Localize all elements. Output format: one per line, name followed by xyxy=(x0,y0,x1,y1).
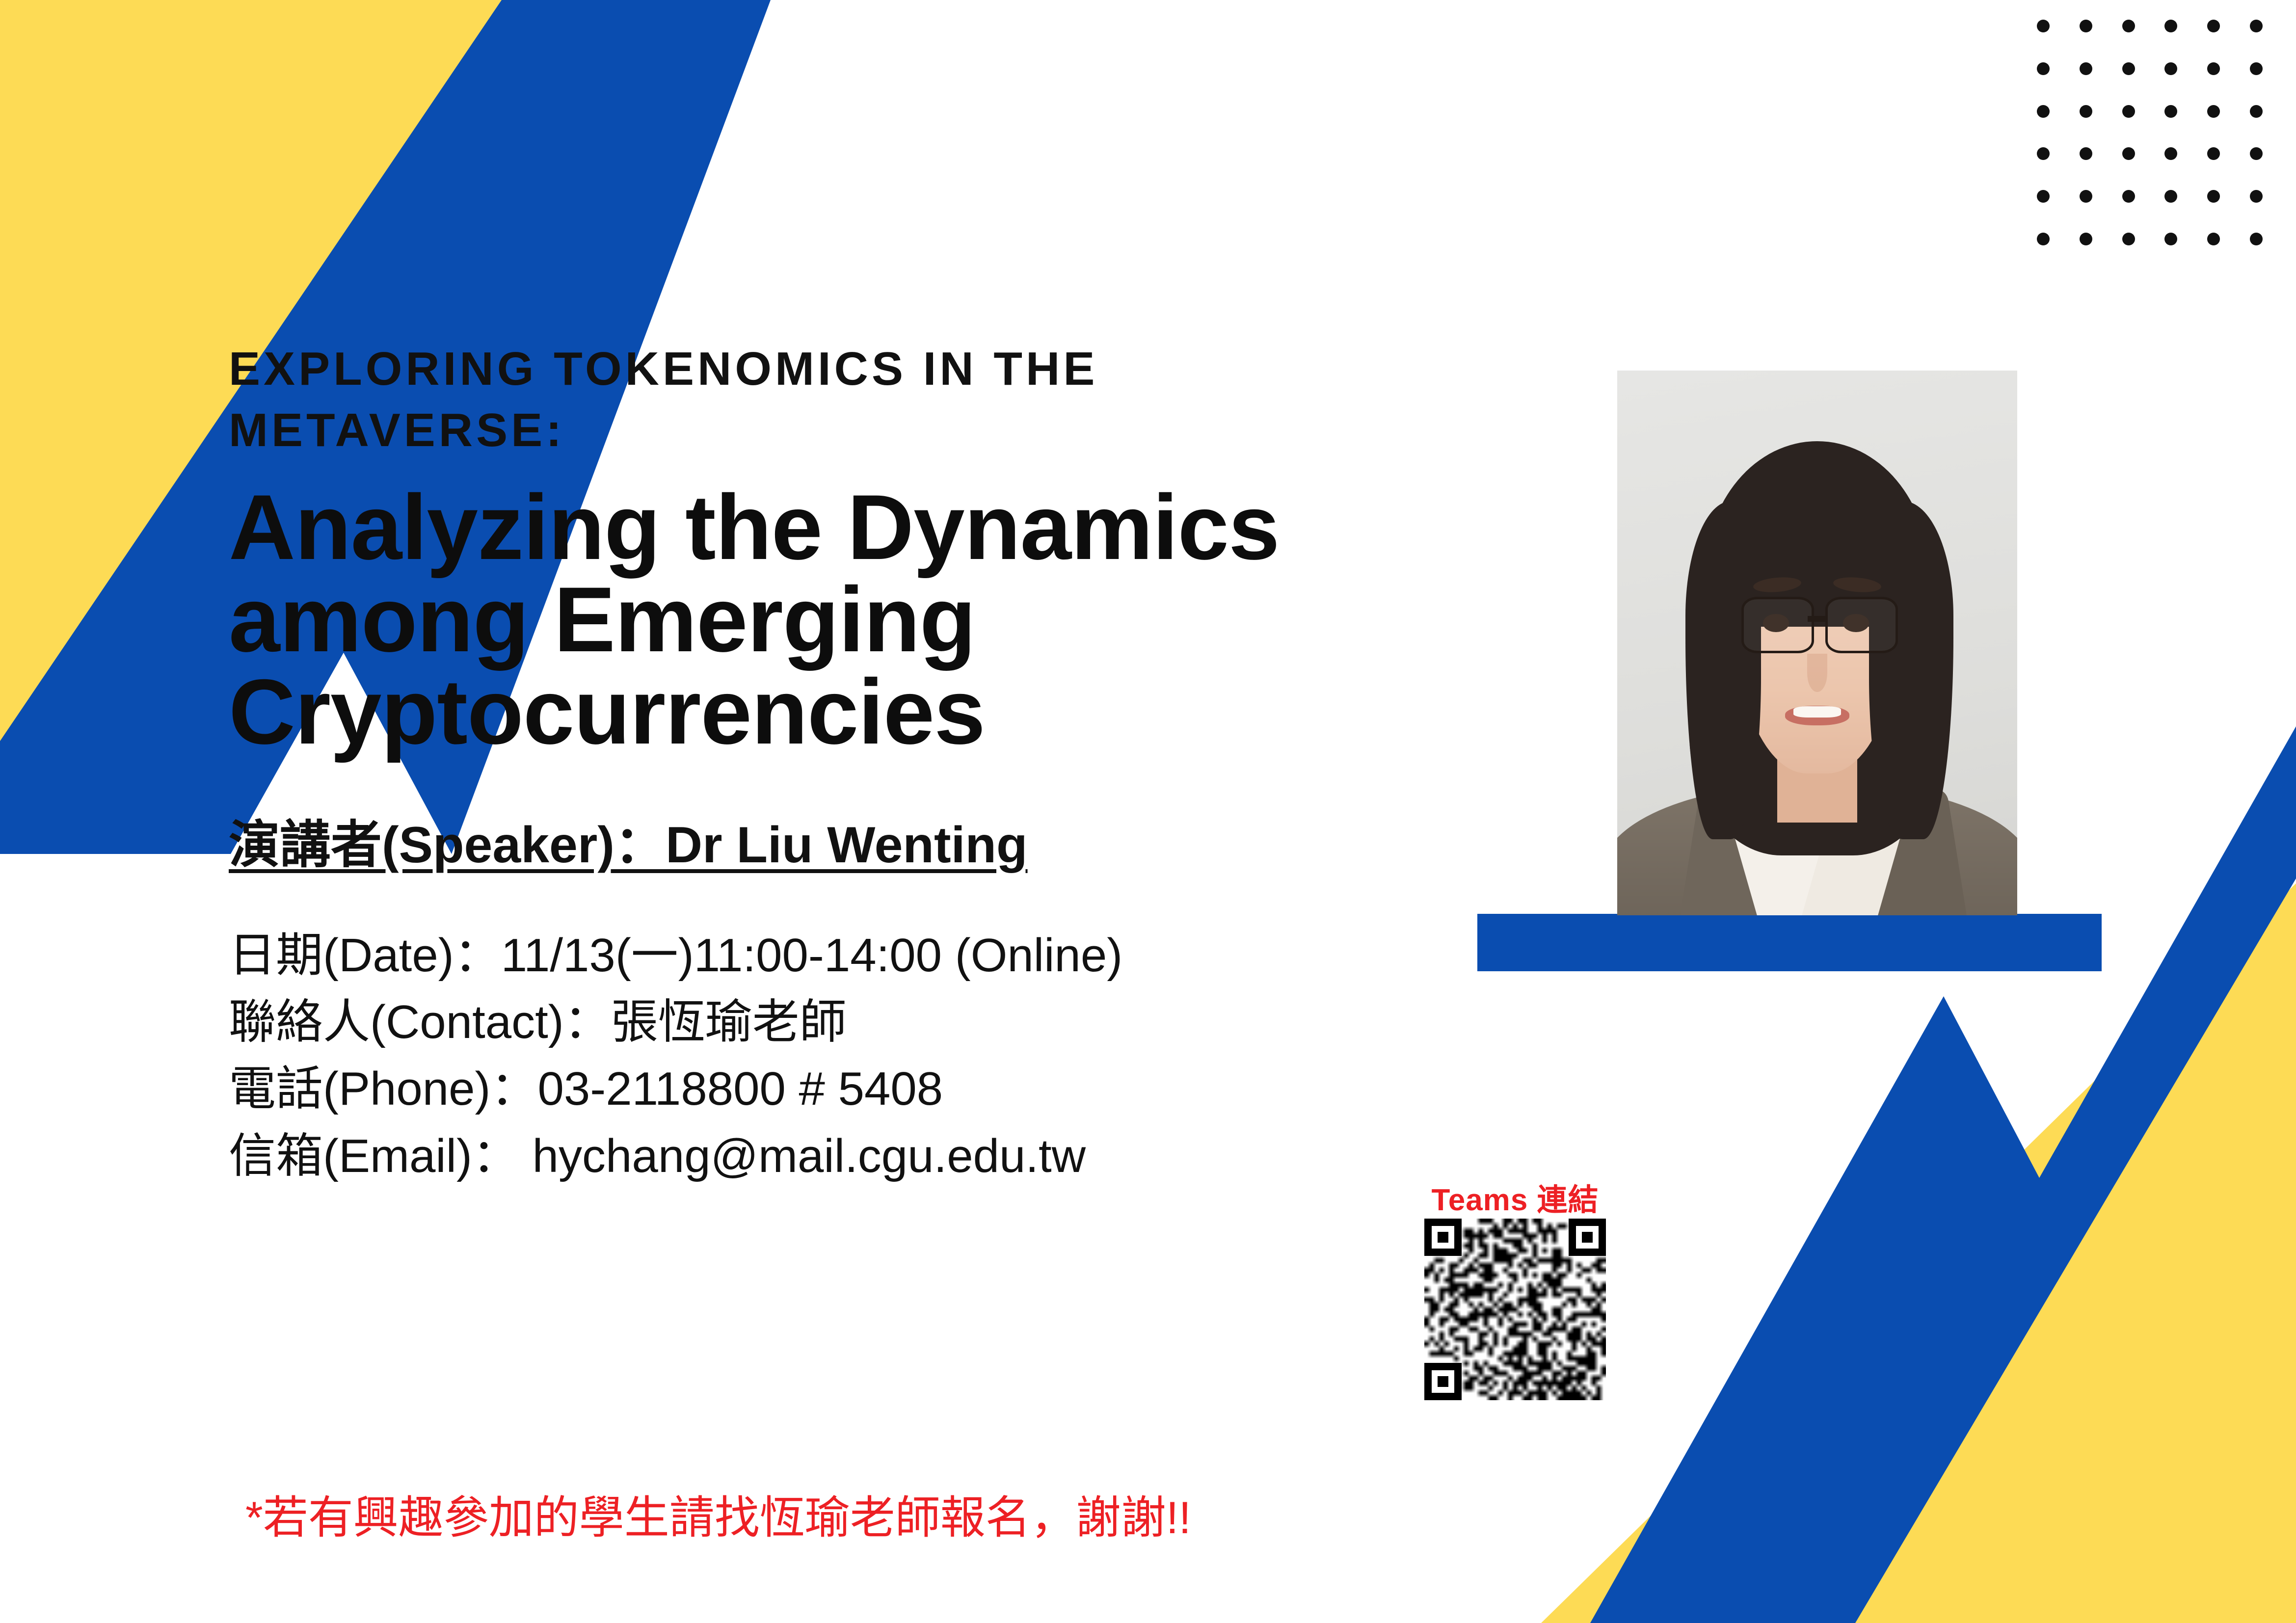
detail-email: 信箱(Email)： hychang@mail.cgu.edu.tw xyxy=(229,1123,1466,1190)
qr-code-icon[interactable] xyxy=(1424,1219,1606,1400)
grid-dot xyxy=(2207,233,2220,245)
page-title: Analyzing the Dynamics among Emerging Cr… xyxy=(229,481,1308,758)
dot-grid-decoration xyxy=(2022,5,2277,260)
grid-dot xyxy=(2122,233,2135,245)
grid-dot xyxy=(2080,105,2092,118)
qr-code-label: Teams 連結 xyxy=(1417,1185,1613,1216)
grid-dot xyxy=(2122,62,2135,75)
grid-dot xyxy=(2164,20,2177,32)
grid-dot xyxy=(2250,190,2263,203)
speaker-photo xyxy=(1617,371,2017,915)
grid-dot xyxy=(2037,20,2050,32)
detail-phone: 電話(Phone)：03-2118800 # 5408 xyxy=(229,1056,1466,1122)
grid-dot xyxy=(2164,105,2177,118)
grid-dot xyxy=(2207,105,2220,118)
event-details-list: 日期(Date)：11/13(一)11:00-14:00 (Online) 聯絡… xyxy=(229,922,1466,1190)
qr-finder-bottom-left xyxy=(1424,1363,1462,1400)
grid-dot xyxy=(2164,190,2177,203)
grid-dot xyxy=(2122,147,2135,160)
grid-dot xyxy=(2207,190,2220,203)
grid-dot xyxy=(2037,147,2050,160)
grid-dot xyxy=(2122,105,2135,118)
grid-dot xyxy=(2122,190,2135,203)
grid-dot xyxy=(2080,190,2092,203)
grid-dot xyxy=(2250,233,2263,245)
grid-dot xyxy=(2037,233,2050,245)
grid-dot xyxy=(2250,62,2263,75)
detail-contact: 聯絡人(Contact)：張恆瑜老師 xyxy=(229,989,1466,1056)
poster-canvas: Exploring Tokenomics in the Metaverse: A… xyxy=(0,0,2296,1623)
yellow-band-bottom-right xyxy=(1541,883,2296,1623)
grid-dot xyxy=(2250,105,2263,118)
grid-dot xyxy=(2080,147,2092,160)
grid-dot xyxy=(2037,190,2050,203)
grid-dot xyxy=(2122,20,2135,32)
qr-finder-top-right xyxy=(1569,1219,1606,1256)
eyebrow-title: Exploring Tokenomics in the Metaverse: xyxy=(229,339,1259,461)
grid-dot xyxy=(2164,62,2177,75)
registration-footnote: *若有興趣參加的學生請找恆瑜老師報名，謝謝!! xyxy=(245,1481,1191,1546)
grid-dot xyxy=(2250,20,2263,32)
grid-dot xyxy=(2207,147,2220,160)
grid-dot xyxy=(2037,62,2050,75)
grid-dot xyxy=(2164,147,2177,160)
grid-dot xyxy=(2080,62,2092,75)
portrait-blue-accent-bar xyxy=(1477,914,2102,971)
teams-link-qr-block[interactable]: Teams 連結 xyxy=(1417,1185,1613,1400)
grid-dot xyxy=(2080,20,2092,32)
detail-date: 日期(Date)：11/13(一)11:00-14:00 (Online) xyxy=(229,922,1466,989)
grid-dot xyxy=(2037,105,2050,118)
speaker-name-line: 演講者(Speaker)：Dr Liu Wenting xyxy=(229,803,1466,877)
grid-dot xyxy=(2207,62,2220,75)
grid-dot xyxy=(2250,147,2263,160)
qr-finder-top-left xyxy=(1424,1219,1462,1256)
grid-dot xyxy=(2164,233,2177,245)
poster-text-content: Exploring Tokenomics in the Metaverse: A… xyxy=(229,339,1466,1190)
grid-dot xyxy=(2080,233,2092,245)
grid-dot xyxy=(2207,20,2220,32)
